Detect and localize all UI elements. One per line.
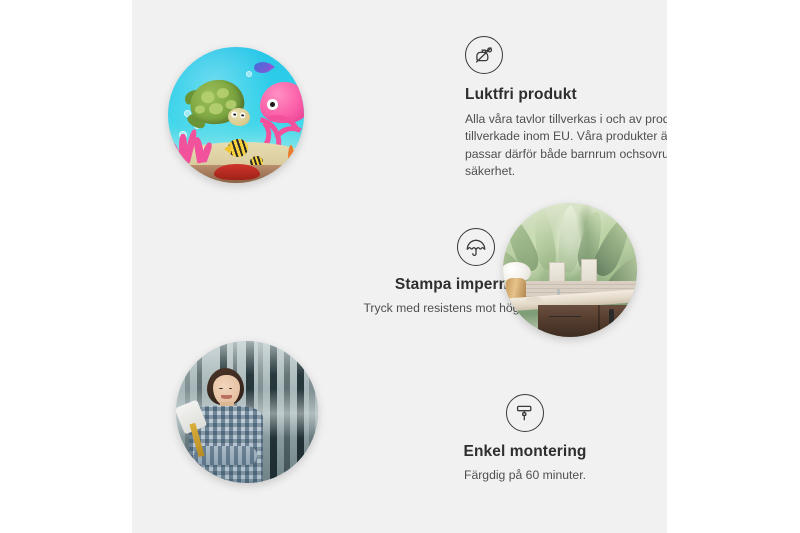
turtle-shell-spot: [200, 90, 214, 103]
striped-fish-tail: [224, 144, 231, 154]
feature-title: Enkel montering: [404, 443, 646, 461]
painter-smile: [221, 395, 232, 399]
woman-painter-forest-mural-thumbnail[interactable]: [176, 341, 318, 483]
cabinet-seam: [598, 305, 600, 337]
feature-assembly: Enkel montering Färgdig på 60 minuter.: [404, 394, 646, 484]
turtle-shell-spot: [194, 104, 205, 114]
bathroom-scene: [503, 203, 637, 337]
small-fish-tail: [269, 63, 275, 71]
underwater-cartoon-mural-thumbnail[interactable]: [168, 47, 304, 183]
octopus-eye: [267, 99, 278, 110]
feature-title: Luktfri produkt: [465, 86, 667, 104]
infographic-page: Luktfri produkt Alla våra tavlor tillver…: [0, 0, 800, 533]
painter-scene: [176, 341, 318, 483]
painter-eye: [219, 388, 223, 390]
cabinet-handle: [549, 316, 581, 318]
umbrella-icon: [457, 228, 495, 266]
paint-roller-icon: [506, 394, 544, 432]
feature-odourless: Luktfri produkt Alla våra tavlor tillver…: [465, 36, 667, 181]
underwater-scene: [168, 47, 304, 183]
content-canvas: Luktfri produkt Alla våra tavlor tillver…: [132, 0, 667, 533]
painter-eye: [229, 388, 233, 390]
feature-description: Färgdig på 60 minuter.: [404, 467, 646, 484]
turtle-shell-spot: [216, 87, 229, 99]
cabinet-handle: [609, 309, 614, 326]
bathroom-leaf-wallpaper-thumbnail[interactable]: [503, 203, 637, 337]
turtle-shell-spot: [208, 102, 222, 115]
crab: [214, 164, 260, 180]
feature-description: Alla våra tavlor tillverkas i och av pro…: [465, 111, 667, 181]
wood-vanity-cabinet: [538, 305, 637, 337]
no-odour-spray-bottle-icon: [465, 36, 503, 74]
